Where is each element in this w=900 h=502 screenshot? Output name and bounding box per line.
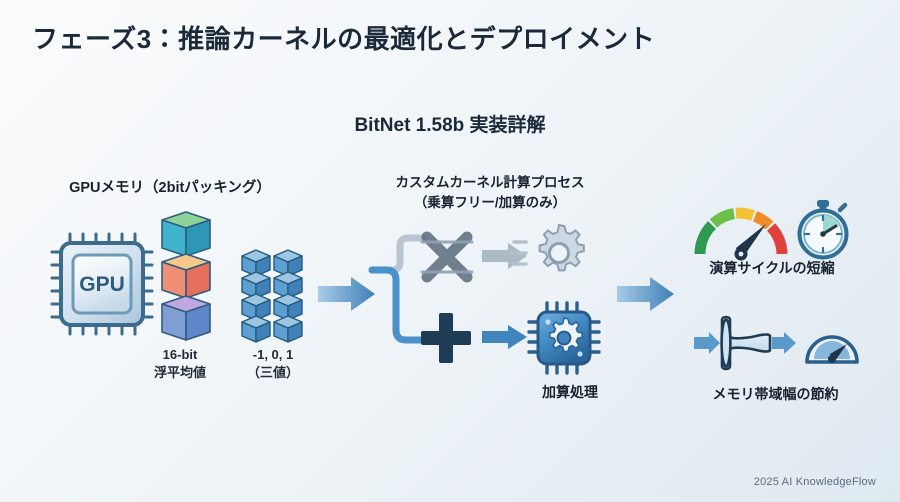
slide-root: フェーズ3：推論カーネルの最適化とデプロイメント BitNet 1.58b 実装…	[0, 0, 900, 502]
page-title: フェーズ3：推論カーネルの最適化とデプロイメント	[32, 19, 655, 56]
gpu-chip-icon: GPU	[44, 226, 160, 342]
gpu-memory-caption: GPUメモリ（2bitパッキング）	[40, 176, 300, 197]
benefit-label-cycle: 演算サイクルの短縮	[672, 258, 872, 278]
plus-icon	[418, 310, 474, 366]
speed-gauge-icon	[692, 204, 790, 260]
benefit-label-bandwidth: メモリ帯域幅の節約	[668, 384, 883, 404]
kernel-caption-line2: （乗算フリー/加算のみ）	[414, 195, 566, 210]
stopwatch-icon	[792, 198, 854, 260]
bandwidth-gauge-icon	[804, 318, 860, 368]
right-arrow-icon	[318, 275, 376, 313]
source-precision-line1: 16-bit	[163, 347, 198, 362]
disabled-flow-arrow-icon	[482, 242, 528, 270]
right-arrow-icon-2	[617, 275, 675, 313]
multiply-icon	[418, 228, 476, 286]
cube-stack-icon	[152, 204, 224, 344]
source-precision-line2: 浮平均値	[154, 365, 206, 380]
kernel-caption-line1: カスタムカーネル計算プロセス	[396, 175, 585, 190]
source-precision-label: 16-bit 浮平均値	[135, 346, 225, 381]
kernel-process-caption: カスタムカーネル計算プロセス （乗算フリー/加算のみ）	[355, 173, 625, 212]
active-flow-arrow-icon	[482, 324, 528, 350]
funnel-icon	[694, 314, 802, 372]
ternary-values-label: -1, 0, 1 （三値）	[228, 346, 318, 381]
addition-process-label: 加算処理	[500, 382, 640, 402]
slide-subtitle: BitNet 1.58b 実装詳解	[0, 110, 900, 137]
packed-cubes-icon	[238, 246, 314, 342]
ternary-values-line1: -1, 0, 1	[253, 347, 293, 362]
slide-footer: 2025 AI KnowledgeFlow	[754, 476, 876, 488]
gear-icon	[528, 222, 590, 284]
ternary-values-line2: （三値）	[247, 365, 299, 380]
chip-gear-icon	[528, 302, 600, 374]
gpu-chip-label: GPU	[79, 273, 125, 296]
